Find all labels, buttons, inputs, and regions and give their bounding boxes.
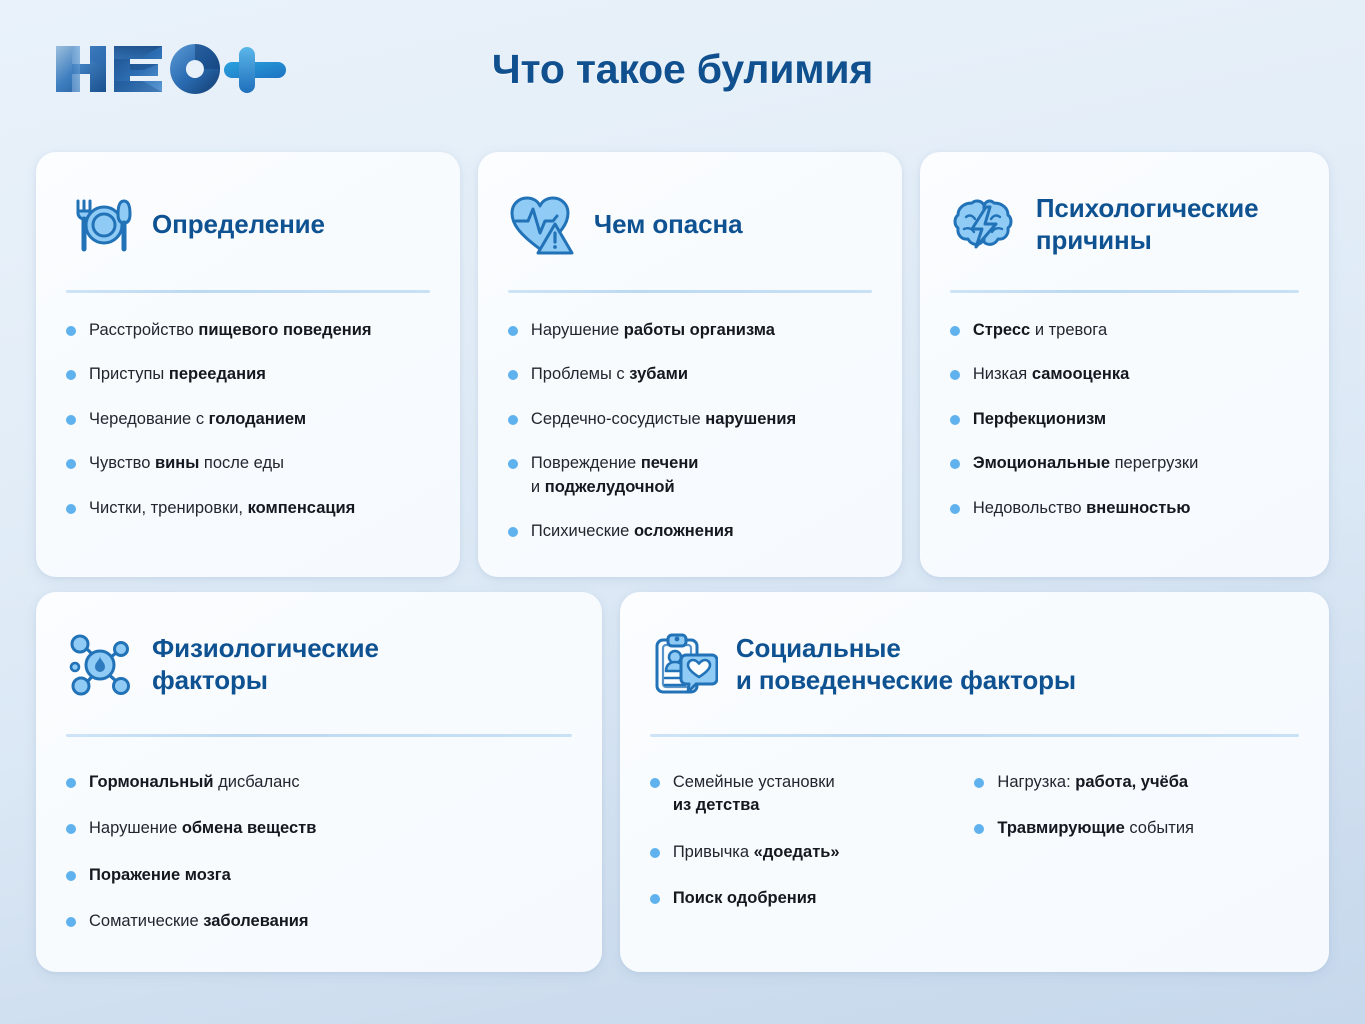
card-divider bbox=[66, 734, 572, 737]
bullet-text: Чистки, тренировки, компенсация bbox=[89, 497, 355, 520]
bullet-text: Расстройство пищевого поведения bbox=[89, 319, 372, 342]
bullet-text: Приступы переедания bbox=[89, 363, 266, 386]
list-item: Поражение мозга bbox=[66, 864, 572, 887]
bullet-dot bbox=[508, 459, 518, 469]
bullet-dot bbox=[508, 415, 518, 425]
header: Что такое булимия bbox=[0, 0, 1365, 140]
list-item: Нарушение обмена веществ bbox=[66, 817, 572, 840]
list-item: Недовольство внешностью bbox=[950, 497, 1299, 520]
list-item: Приступы переедания bbox=[66, 363, 430, 386]
bullet-dot bbox=[66, 778, 76, 788]
heart-pulse-warning-icon bbox=[508, 191, 576, 259]
card-physiological: Физиологические факторы Гормональный дис… bbox=[36, 592, 602, 972]
card-title: Социальные и поведенческие факторы bbox=[736, 633, 1076, 696]
card-header: Определение bbox=[66, 182, 430, 268]
bullet-text: Гормональный дисбаланс bbox=[89, 771, 300, 794]
bullet-dot bbox=[66, 504, 76, 514]
bullet-text: Поражение мозга bbox=[89, 864, 231, 887]
bullet-text: Недовольство внешностью bbox=[973, 497, 1191, 520]
card-title-line-2: факторы bbox=[152, 665, 268, 695]
bullet-dot bbox=[650, 848, 660, 858]
bullet-text: Нагрузка: работа, учёба bbox=[997, 771, 1188, 794]
card-header: Психологические причины bbox=[950, 182, 1299, 268]
card-danger: Чем опасна Нарушение работы организма Пр… bbox=[478, 152, 902, 577]
molecule-hormone-icon bbox=[66, 631, 134, 699]
list-item: Повреждение печении поджелудочной bbox=[508, 452, 872, 499]
list-item: Соматические заболевания bbox=[66, 910, 572, 933]
bullet-column-right: Нагрузка: работа, учёба Травмирующие соб… bbox=[974, 771, 1299, 934]
bullet-dot bbox=[66, 370, 76, 380]
bullet-dot bbox=[650, 778, 660, 788]
bullet-dot bbox=[66, 871, 76, 881]
card-social: Социальные и поведенческие факторы Семей… bbox=[620, 592, 1329, 972]
bullet-dot bbox=[66, 326, 76, 336]
bullet-text: Нарушение работы организма bbox=[531, 319, 775, 342]
list-item: Эмоциональные перегрузки bbox=[950, 452, 1299, 475]
card-title-line-2: и поведенческие факторы bbox=[736, 665, 1076, 695]
list-item: Нагрузка: работа, учёба bbox=[974, 771, 1299, 794]
list-item: Нарушение работы организма bbox=[508, 319, 872, 342]
brain-lightning-icon bbox=[950, 191, 1018, 259]
bullet-text: Нарушение обмена веществ bbox=[89, 817, 316, 840]
card-divider bbox=[950, 290, 1299, 293]
list-item: Травмирующие события bbox=[974, 817, 1299, 840]
bullet-text: Перфекционизм bbox=[973, 408, 1106, 431]
card-title: Физиологические факторы bbox=[152, 633, 379, 696]
bullet-dot bbox=[974, 824, 984, 834]
list-item: Расстройство пищевого поведения bbox=[66, 319, 430, 342]
bullet-dot bbox=[66, 917, 76, 927]
card-header: Социальные и поведенческие факторы bbox=[650, 622, 1299, 708]
list-item: Чередование с голоданием bbox=[66, 408, 430, 431]
cards-row-bottom: Физиологические факторы Гормональный дис… bbox=[36, 592, 1329, 972]
bullet-text: Травмирующие события bbox=[997, 817, 1194, 840]
bullet-dot bbox=[508, 370, 518, 380]
bullet-text: Низкая самооценка bbox=[973, 363, 1129, 386]
bullet-dot bbox=[950, 415, 960, 425]
bullet-text: Проблемы с зубами bbox=[531, 363, 688, 386]
bullet-list: Стресс и тревога Низкая самооценка Перфе… bbox=[950, 319, 1299, 520]
page-title: Что такое булимия bbox=[0, 46, 1365, 93]
bullet-dot bbox=[66, 824, 76, 834]
card-definition: Определение Расстройство пищевого поведе… bbox=[36, 152, 460, 577]
bullet-list: Расстройство пищевого поведения Приступы… bbox=[66, 319, 430, 520]
list-item: Сердечно-сосудистые нарушения bbox=[508, 408, 872, 431]
bullet-dot bbox=[950, 504, 960, 514]
list-item: Семейные установкииз детства bbox=[650, 771, 975, 818]
card-title-line-2: причины bbox=[1036, 225, 1152, 255]
bullet-list: Нарушение работы организма Проблемы с зу… bbox=[508, 319, 872, 544]
list-item: Психические осложнения bbox=[508, 520, 872, 543]
bullet-text: Привычка «доедать» bbox=[673, 841, 840, 864]
bullet-text: Эмоциональные перегрузки bbox=[973, 452, 1199, 475]
list-item: Перфекционизм bbox=[950, 408, 1299, 431]
card-divider bbox=[650, 734, 1299, 737]
plate-fork-knife-icon bbox=[66, 191, 134, 259]
card-divider bbox=[66, 290, 430, 293]
list-item: Поиск одобрения bbox=[650, 887, 975, 910]
list-item: Низкая самооценка bbox=[950, 363, 1299, 386]
card-title-line-1: Психологические bbox=[1036, 193, 1259, 223]
card-title: Определение bbox=[152, 209, 325, 241]
bullet-text: Соматические заболевания bbox=[89, 910, 309, 933]
bullet-list: Гормональный дисбаланс Нарушение обмена … bbox=[66, 771, 572, 934]
bullet-dot bbox=[950, 326, 960, 336]
bullet-dot bbox=[508, 326, 518, 336]
bullet-text: Психические осложнения bbox=[531, 520, 734, 543]
bullet-text: Повреждение печении поджелудочной bbox=[531, 452, 699, 499]
bullet-text: Сердечно-сосудистые нарушения bbox=[531, 408, 796, 431]
list-item: Привычка «доедать» bbox=[650, 841, 975, 864]
bullet-dot bbox=[974, 778, 984, 788]
list-item: Чистки, тренировки, компенсация bbox=[66, 497, 430, 520]
bullet-text: Поиск одобрения bbox=[673, 887, 817, 910]
card-psychological: Психологические причины Стресс и тревога… bbox=[920, 152, 1329, 577]
bullet-text: Чередование с голоданием bbox=[89, 408, 306, 431]
card-title: Психологические причины bbox=[1036, 193, 1259, 256]
bullet-text: Стресс и тревога bbox=[973, 319, 1107, 342]
list-item: Чувство вины после еды bbox=[66, 452, 430, 475]
bullet-dot bbox=[950, 370, 960, 380]
card-header: Чем опасна bbox=[508, 182, 872, 268]
bullet-dot bbox=[66, 415, 76, 425]
card-header: Физиологические факторы bbox=[66, 622, 572, 708]
bullet-dot bbox=[66, 459, 76, 469]
card-title: Чем опасна bbox=[594, 209, 743, 241]
bullet-dot bbox=[950, 459, 960, 469]
bullet-text: Чувство вины после еды bbox=[89, 452, 284, 475]
bullet-dot bbox=[508, 527, 518, 537]
list-item: Стресс и тревога bbox=[950, 319, 1299, 342]
list-item: Проблемы с зубами bbox=[508, 363, 872, 386]
bullet-column-left: Семейные установкииз детства Привычка «д… bbox=[650, 771, 975, 934]
bullet-text: Семейные установкииз детства bbox=[673, 771, 835, 818]
bullet-dot bbox=[650, 894, 660, 904]
card-title-line-1: Физиологические bbox=[152, 633, 379, 663]
cards-row-top: Определение Расстройство пищевого поведе… bbox=[36, 152, 1329, 577]
bullet-list: Семейные установкииз детства Привычка «д… bbox=[650, 771, 1299, 934]
list-item: Гормональный дисбаланс bbox=[66, 771, 572, 794]
clipboard-person-heart-icon bbox=[650, 631, 718, 699]
card-divider bbox=[508, 290, 872, 293]
card-title-line-1: Социальные bbox=[736, 633, 901, 663]
infographic-page: Что такое булимия bbox=[0, 0, 1365, 1024]
